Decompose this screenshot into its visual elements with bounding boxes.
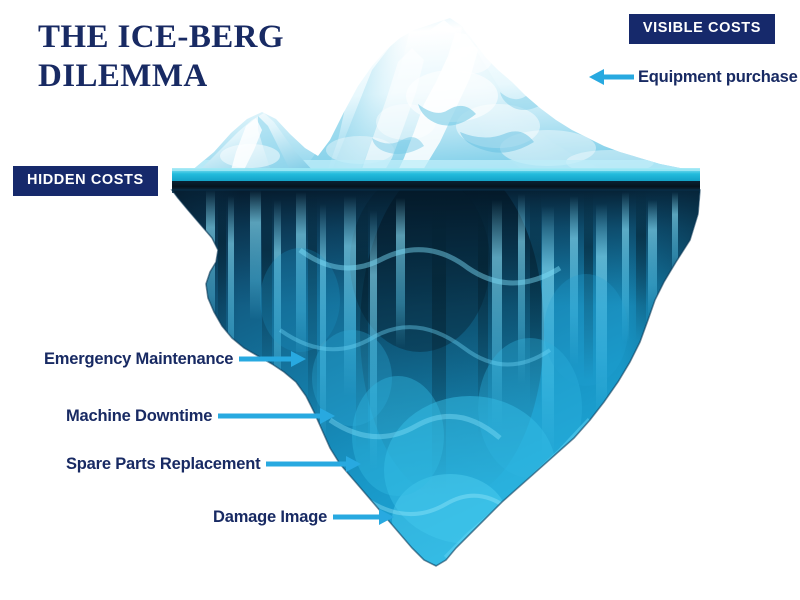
arrow-left-icon [588,68,634,86]
callout-label-equipment-purchase: Equipment purchase [638,69,798,86]
callout-label-machine-downtime: Machine Downtime [66,408,212,425]
iceberg-secondary-peak [196,113,318,176]
page-title: THE ICE-BERG DILEMMA [38,18,338,96]
callout-label-spare-parts-replacement: Spare Parts Replacement [66,456,260,473]
callout-damage-image: Damage Image [213,508,395,526]
iceberg-infographic: THE ICE-BERG DILEMMA VISIBLE COSTS HIDDE… [0,0,800,600]
callout-machine-downtime: Machine Downtime [66,407,336,425]
arrow-right-icon [333,508,395,526]
hidden-costs-badge: HIDDEN COSTS [13,166,158,196]
arrow-right-icon [218,407,336,425]
waterline [172,168,700,193]
arrow-right-icon [266,455,362,473]
callout-spare-parts-replacement: Spare Parts Replacement [66,455,362,473]
visible-costs-badge: VISIBLE COSTS [629,14,775,44]
arrow-right-icon [239,350,307,368]
callout-label-emergency-maintenance: Emergency Maintenance [44,351,233,368]
callout-equipment-purchase: Equipment purchase [588,68,798,86]
callout-emergency-maintenance: Emergency Maintenance [44,350,307,368]
callout-label-damage-image: Damage Image [213,509,327,526]
